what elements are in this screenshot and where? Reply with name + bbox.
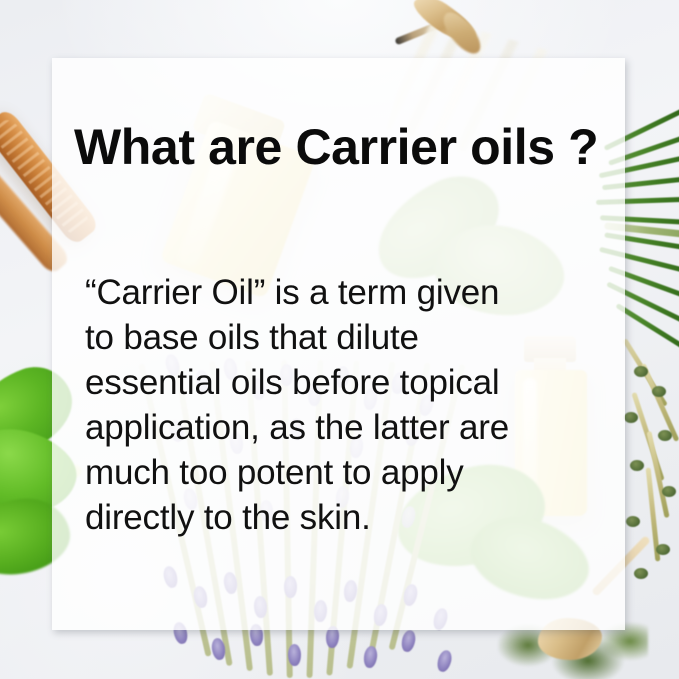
thyme-leaf-icon	[656, 544, 670, 555]
body-line: essential oils before topical	[85, 360, 615, 405]
thyme-leaf-icon	[634, 366, 648, 377]
lavender-bud-icon	[435, 649, 454, 674]
lavender-bud-icon	[288, 644, 301, 666]
body-line: to base oils that dilute	[85, 315, 615, 360]
body-line: “Carrier Oil” is a term given	[85, 270, 615, 315]
lavender-bud-icon	[400, 629, 417, 653]
body-line: application, as the latter are	[85, 405, 615, 450]
body-line: directly to the skin.	[85, 495, 615, 540]
lavender-bud-icon	[363, 645, 379, 669]
body-paragraph: “Carrier Oil” is a term given to base oi…	[85, 270, 615, 540]
thyme-leaf-icon	[662, 486, 676, 497]
body-line: much too potent to apply	[85, 450, 615, 495]
thyme-leaf-icon	[658, 430, 672, 441]
infographic-canvas: What are Carrier oils ? “Carrier Oil” is…	[0, 0, 679, 679]
thyme-leaf-icon	[630, 460, 644, 471]
thyme-leaf-icon	[634, 568, 648, 579]
page-title: What are Carrier oils ?	[74, 118, 598, 176]
thyme-leaf-icon	[624, 412, 638, 423]
thyme-leaf-icon	[626, 516, 640, 527]
thyme-leaf-icon	[652, 386, 666, 397]
